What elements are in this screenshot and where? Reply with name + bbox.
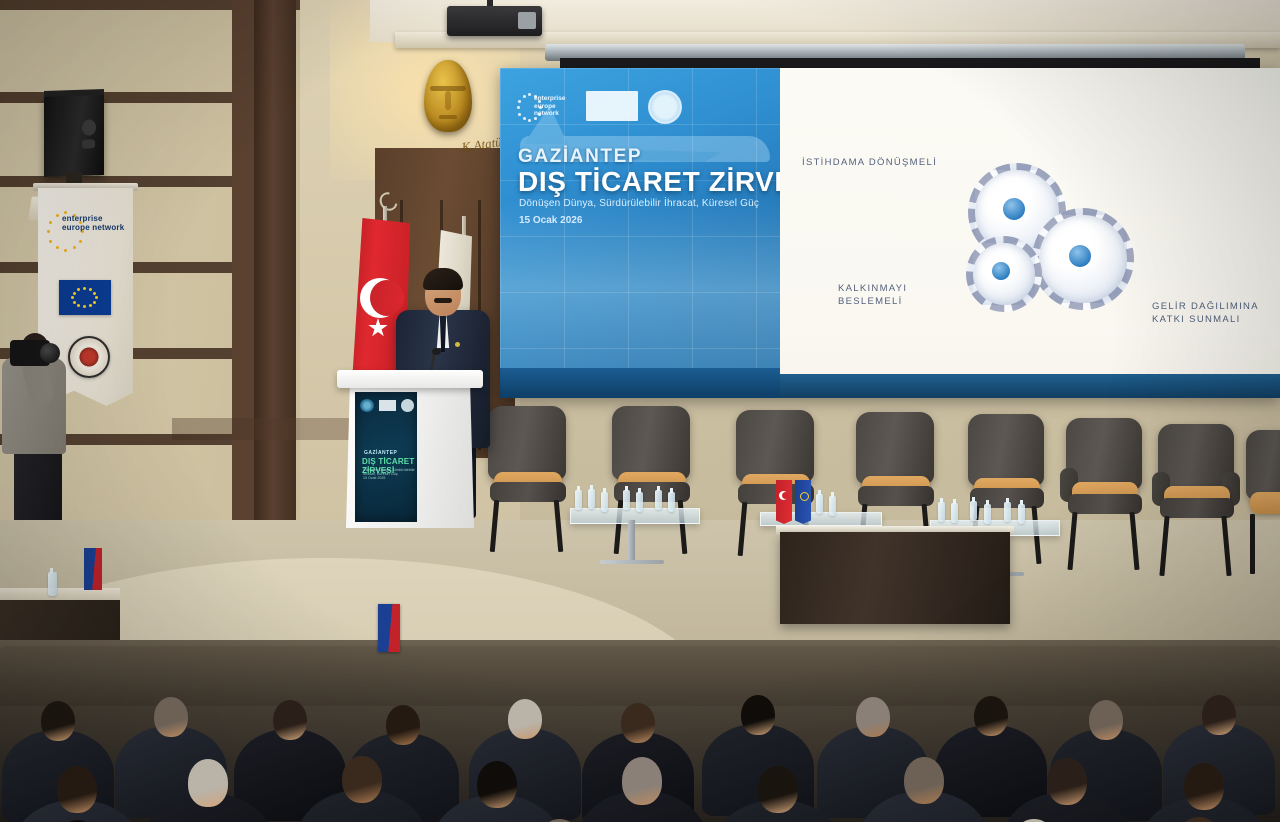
audience-head [41, 701, 75, 741]
audience-head [622, 757, 662, 804]
seat-row-back [0, 646, 1280, 706]
speaker-lapel-pin [455, 342, 460, 347]
audience-head [508, 699, 542, 739]
speaker-moustache [434, 298, 452, 303]
podium-logo-row [360, 398, 414, 414]
audience-head [154, 697, 188, 737]
podium-display-screen: GAZİANTEP DIŞ TİCARET ZİRVESİ Dönüşen Dü… [355, 392, 417, 522]
audience-head [904, 757, 944, 804]
podium-slide-city: GAZİANTEP [364, 450, 397, 456]
water-bottle [48, 572, 57, 596]
audience-head [758, 766, 798, 813]
slide-right-panel: İSTİHDAMA DÖNÜŞMELİ KALKINMAYI BESLEMELİ… [780, 68, 1280, 398]
presidium-table [780, 532, 1010, 624]
chamber-seal-logo-icon [648, 90, 682, 124]
audience-head [342, 756, 382, 803]
table-base [600, 560, 664, 564]
audience-head [188, 759, 228, 806]
slide-bottom-band-left [500, 368, 780, 398]
water-bottle [636, 492, 643, 512]
slide-city: GAZİANTEP [518, 146, 642, 168]
speaker-driver-high [82, 119, 96, 135]
label-kalkinmayi-beslemeli: KALKINMAYI BESLEMELİ [838, 282, 907, 308]
wall-column-dark [254, 0, 296, 600]
slide-logo-row: enterprise europe network [516, 88, 692, 126]
water-bottle [575, 490, 582, 510]
water-bottle [829, 496, 836, 516]
audience-table-flag-icon [378, 604, 400, 652]
slide-left-panel: enterprise europe network GAZİANTEP DIŞ … [500, 68, 780, 398]
audience-head [57, 766, 97, 813]
water-bottle [655, 490, 662, 510]
projector-lens [518, 12, 536, 29]
white-box-logo-icon [586, 91, 638, 121]
podium-slide-date: 15 Ocak 2026 [363, 476, 385, 480]
water-bottle [623, 490, 630, 510]
water-bottle [938, 502, 945, 522]
gear-icon-small [966, 236, 1042, 312]
slide-subtitle: Dönüşen Dünya, Sürdürülebilir İhracat, K… [519, 198, 759, 209]
front-desk-body [0, 600, 120, 640]
audience-head [856, 697, 890, 737]
podium-slide-subtitle: Dönüşen Dünya, Sürdürülebilir İhracat, K… [363, 468, 417, 476]
eu-flag-icon [59, 280, 111, 315]
audience-head [1047, 758, 1087, 805]
audience-head [1202, 695, 1236, 735]
banner-logo-text: enterprise europe network [62, 214, 128, 232]
podium-een-logo-icon [360, 399, 374, 412]
conference-hall-photo: K.Atatürk enterprise europe network [0, 0, 1280, 822]
chamber-seal-icon [68, 336, 110, 378]
podium-white-logo-icon [379, 400, 396, 411]
audience-head [974, 696, 1008, 736]
water-bottle [668, 492, 675, 512]
slide-date: 15 Ocak 2026 [519, 215, 582, 226]
audience-table-flag-small [84, 548, 102, 590]
podium-top [337, 370, 483, 388]
turkish-table-flag-icon [776, 480, 792, 524]
water-bottle [588, 489, 595, 509]
microphone-icon [432, 348, 441, 355]
audience-head [741, 695, 775, 735]
water-bottle [984, 504, 991, 524]
camera-lens-icon [40, 343, 60, 363]
speaker-driver-low [82, 139, 95, 148]
water-bottle [1004, 502, 1011, 522]
audience-head [1184, 763, 1224, 810]
water-bottle [951, 503, 958, 523]
table-stem [628, 520, 635, 562]
podium-seal-logo-icon [401, 399, 414, 412]
audience-head [273, 700, 307, 740]
water-bottle [816, 494, 823, 514]
eu-table-flag-icon [795, 480, 811, 524]
een-logo-icon: enterprise europe network [516, 90, 580, 124]
label-gelir-dagilimina: GELİR DAĞILIMINA KATKI SUNMALI [1152, 300, 1259, 326]
water-bottle [1018, 504, 1025, 524]
slide-bottom-band [780, 374, 1280, 398]
water-bottle [970, 501, 977, 521]
projection-screen: enterprise europe network GAZİANTEP DIŞ … [500, 68, 1280, 398]
audience-head [386, 705, 420, 745]
gear-icon-medium [1032, 208, 1134, 310]
audience-head [621, 703, 655, 743]
loudspeaker-icon [44, 95, 104, 177]
projector-icon [447, 6, 542, 36]
slide-title: DIŞ TİCARET ZİRVESİ [518, 166, 780, 198]
audience-head [1089, 700, 1123, 740]
audience-head [477, 761, 517, 808]
glass-coffee-table [570, 508, 700, 524]
label-istihdama-donusmeli: İSTİHDAMA DÖNÜŞMELİ [802, 156, 937, 169]
water-bottle [601, 492, 608, 512]
